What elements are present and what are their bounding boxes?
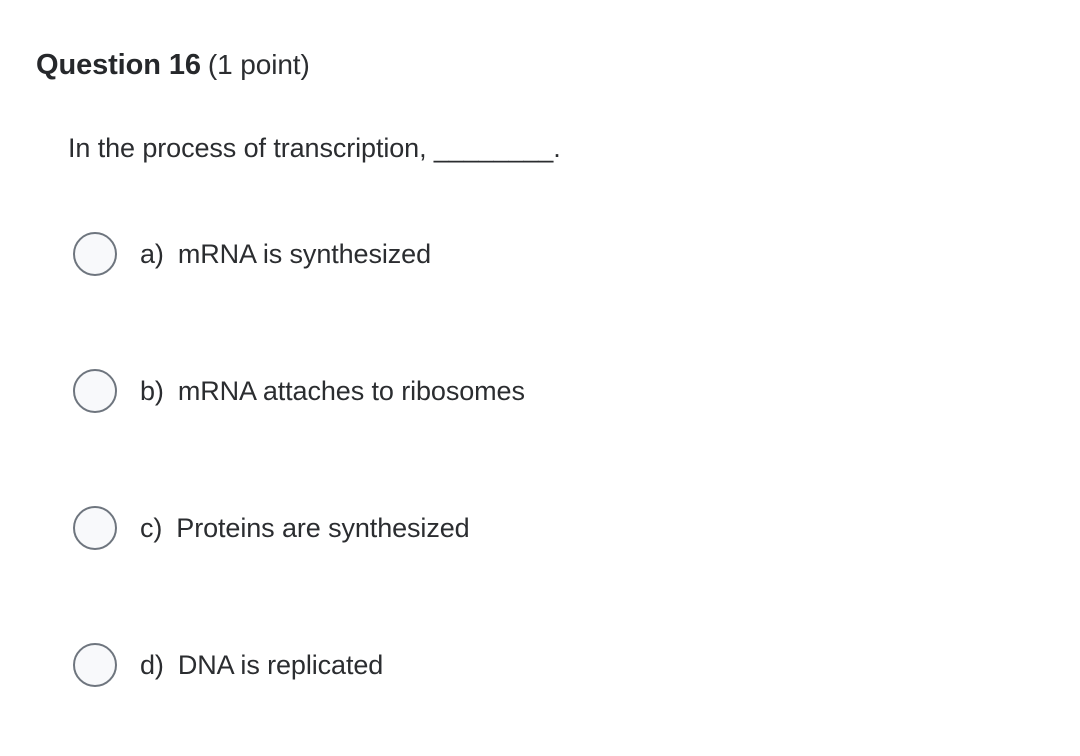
radio-unchecked-icon[interactable] xyxy=(73,232,117,276)
radio-unchecked-icon[interactable] xyxy=(73,643,117,687)
radio-unchecked-icon[interactable] xyxy=(73,506,117,550)
answer-text-b[interactable]: mRNA attaches to ribosomes xyxy=(178,376,525,407)
answer-text-c[interactable]: Proteins are synthesized xyxy=(176,513,469,544)
question-number-label: Question 16 xyxy=(36,49,201,81)
answer-option-a[interactable]: a) mRNA is synthesized xyxy=(73,230,431,278)
answer-option-c[interactable]: c) Proteins are synthesized xyxy=(73,504,470,552)
answer-letter-c: c) xyxy=(140,513,162,544)
answer-letter-a: a) xyxy=(140,239,164,270)
question-points-label: (1 point) xyxy=(208,49,310,80)
answer-letter-b: b) xyxy=(140,376,164,407)
answer-text-d[interactable]: DNA is replicated xyxy=(178,650,383,681)
answer-option-d[interactable]: d) DNA is replicated xyxy=(73,641,383,689)
answer-text-a[interactable]: mRNA is synthesized xyxy=(178,239,431,270)
radio-unchecked-icon[interactable] xyxy=(73,369,117,413)
answer-option-b[interactable]: b) mRNA attaches to ribosomes xyxy=(73,367,525,415)
question-stem-text: In the process of transcription, _______… xyxy=(68,130,561,166)
answer-letter-d: d) xyxy=(140,650,164,681)
question-header: Question 16(1 point) xyxy=(36,48,310,83)
quiz-question-page: Question 16(1 point) In the process of t… xyxy=(0,0,1080,756)
